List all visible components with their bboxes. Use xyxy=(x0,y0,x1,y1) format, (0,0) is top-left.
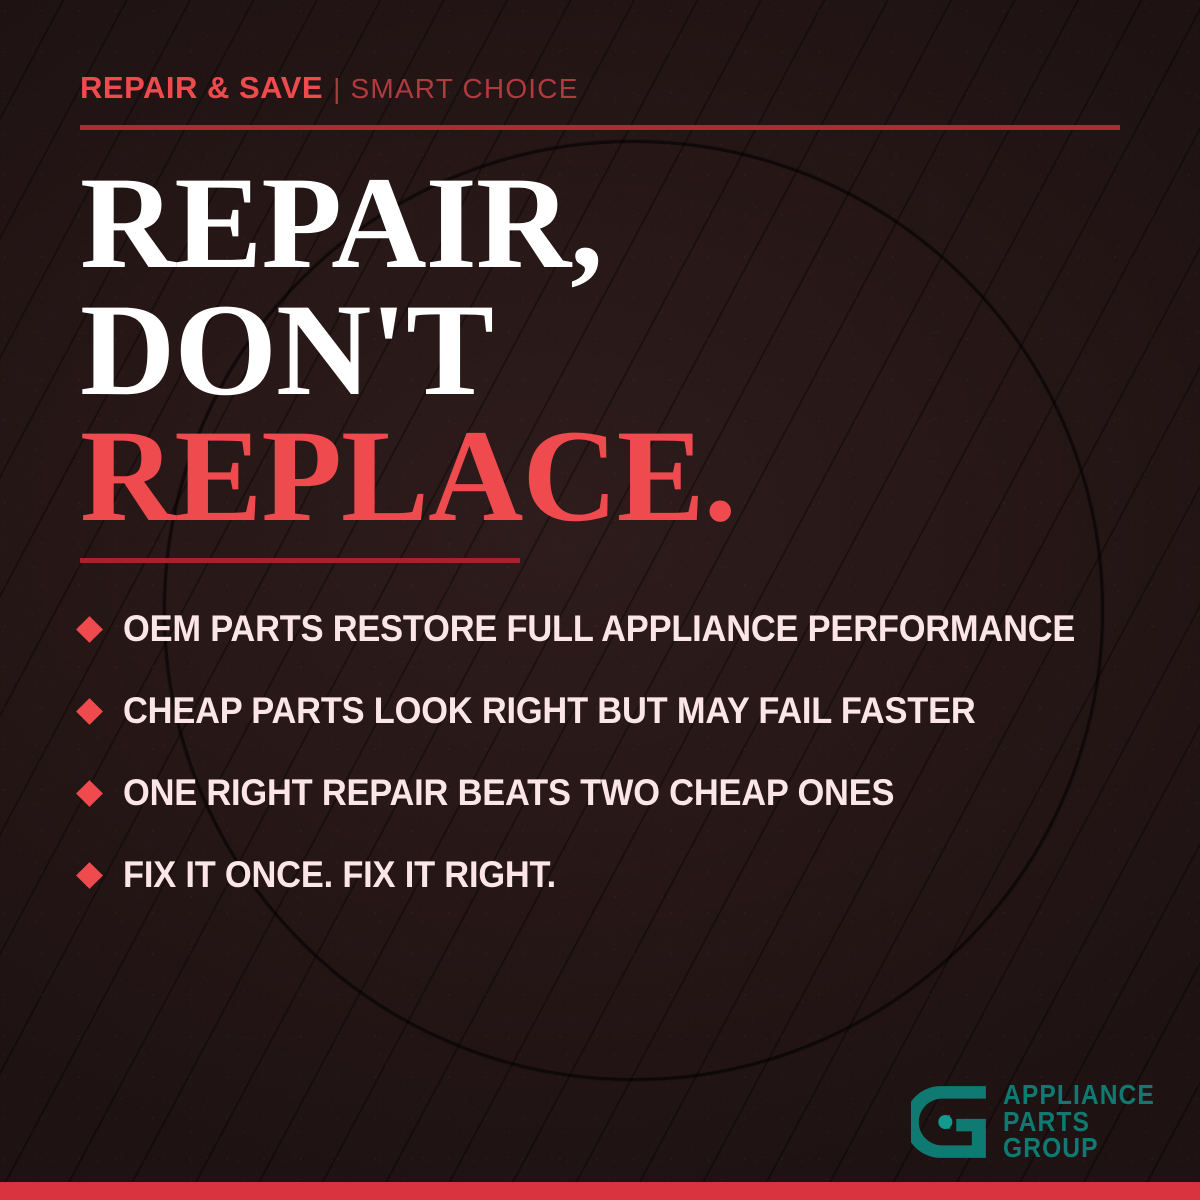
eyebrow: REPAIR & SAVE| SMART CHOICE xyxy=(80,72,579,103)
list-item-label: ONE RIGHT REPAIR BEATS TWO CHEAP ONES xyxy=(123,772,894,814)
list-item-label: CHEAP PARTS LOOK RIGHT BUT MAY FAIL FAST… xyxy=(123,690,976,732)
diamond-icon xyxy=(76,862,103,889)
brand-line-1: APPLIANCE xyxy=(1003,1082,1155,1109)
bottom-accent-bar xyxy=(0,1182,1200,1200)
list-item-label: FIX IT ONCE. FIX IT RIGHT. xyxy=(123,854,556,896)
page-title: REPAIR, DON'T REPLACE. xyxy=(80,160,1140,540)
promo-poster: REPAIR & SAVE| SMART CHOICE REPAIR, DON'… xyxy=(0,0,1200,1200)
brand-logo: APPLIANCE PARTS GROUP xyxy=(911,1082,1176,1162)
eyebrow-kicker: REPAIR & SAVE xyxy=(80,70,323,105)
brand-line-2: PARTS xyxy=(1003,1109,1155,1136)
headline-line-1: REPAIR, xyxy=(80,160,1140,287)
header-divider xyxy=(80,125,1120,130)
list-item-label: OEM PARTS RESTORE FULL APPLIANCE PERFORM… xyxy=(123,608,1075,650)
list-item: ONE RIGHT REPAIR BEATS TWO CHEAP ONES xyxy=(80,752,1160,834)
g-monogram-icon xyxy=(911,1083,989,1161)
diamond-icon xyxy=(76,780,103,807)
eyebrow-subtitle: | SMART CHOICE xyxy=(333,73,579,104)
headline-line-3: REPLACE. xyxy=(80,413,1140,540)
headline-line-2: DON'T xyxy=(80,287,1140,414)
section-divider xyxy=(80,558,520,563)
diamond-icon xyxy=(76,698,103,725)
list-item: OEM PARTS RESTORE FULL APPLIANCE PERFORM… xyxy=(80,588,1160,670)
list-item: FIX IT ONCE. FIX IT RIGHT. xyxy=(80,834,1160,916)
diamond-icon xyxy=(76,616,103,643)
brand-line-3: GROUP xyxy=(1003,1135,1155,1162)
benefits-list: OEM PARTS RESTORE FULL APPLIANCE PERFORM… xyxy=(80,588,1160,916)
list-item: CHEAP PARTS LOOK RIGHT BUT MAY FAIL FAST… xyxy=(80,670,1160,752)
brand-wordmark: APPLIANCE PARTS GROUP xyxy=(1003,1082,1155,1162)
